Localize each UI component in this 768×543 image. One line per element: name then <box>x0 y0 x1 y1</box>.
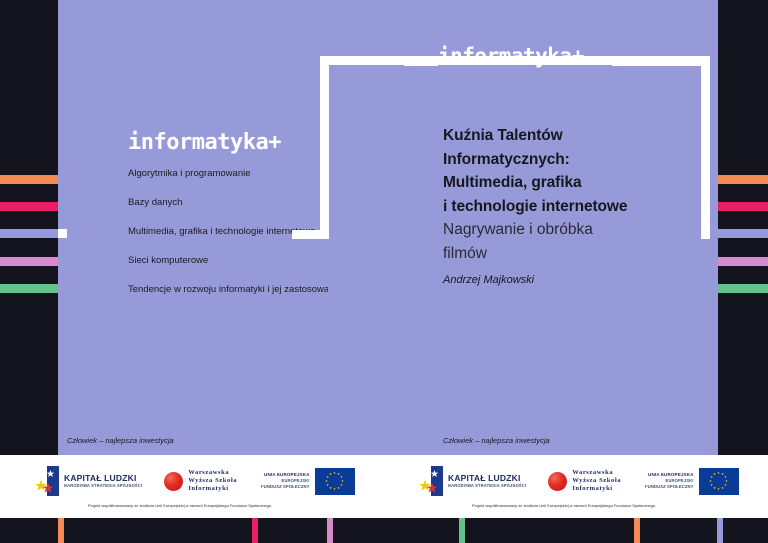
logo-row-left: KAPITAŁ LUDZKI NARODOWA STRATEGIA SPÓJNO… <box>36 463 355 499</box>
title-line-3: Multimedia, grafika <box>443 171 703 195</box>
title-line-4: i technologie internetowe <box>443 195 703 219</box>
footer-note-left: Projekt współfinansowany ze środków Unii… <box>88 503 272 508</box>
wwsi-text: Warszawska Wyższa Szkoła Informatyki <box>572 469 621 493</box>
eu-star-icon <box>721 487 724 490</box>
bottom-stripe-4 <box>459 518 465 543</box>
footer-note-right: Projekt współfinansowany ze środków Unii… <box>472 503 656 508</box>
eu-star-icon <box>717 472 720 475</box>
wwsi-line-1: Warszawska <box>188 469 237 477</box>
bottom-stripe-2 <box>252 518 258 543</box>
logo-wwsi-right: Warszawska Wyższa Szkoła Informatyki <box>548 469 621 493</box>
logo-bar-left <box>404 59 438 66</box>
logo-bar-right <box>612 59 710 66</box>
kapital-ludzki-title: KAPITAŁ LUDZKI <box>64 473 142 483</box>
bottom-stripe-3 <box>327 518 333 543</box>
edge-stripe-right-2 <box>718 202 768 211</box>
kapital-ludzki-text: KAPITAŁ LUDZKI NARODOWA STRATEGIA SPÓJNO… <box>64 473 142 489</box>
bottom-band <box>0 518 768 543</box>
edge-stripe-right-3 <box>718 229 768 238</box>
wwsi-line-1: Warszawska <box>572 469 621 477</box>
bottom-stripe-1 <box>58 518 64 543</box>
eu-star-icon <box>340 476 343 479</box>
eu-star-icon <box>725 480 728 483</box>
logo-unia-europejska-left: UNIA EUROPEJSKA EUROPEJSKI FUNDUSZ SPOŁE… <box>261 468 354 495</box>
logo-informatyka-plus-right: informatyka+ <box>438 44 584 68</box>
bottom-stripe-6 <box>717 518 723 543</box>
eu-star-icon <box>710 476 713 479</box>
logo-wwsi-left: Warszawska Wyższa Szkoła Informatyki <box>164 469 237 493</box>
edge-stripe-left-4 <box>0 257 58 266</box>
kapital-ludzki-text: KAPITAŁ LUDZKI NARODOWA STRATEGIA SPÓJNO… <box>448 473 526 489</box>
logo-kapital-ludzki-left: KAPITAŁ LUDZKI NARODOWA STRATEGIA SPÓJNO… <box>36 466 142 496</box>
kapital-ludzki-title: KAPITAŁ LUDZKI <box>448 473 526 483</box>
ue-line-3: FUNDUSZ SPOŁECZNY <box>645 484 693 490</box>
eu-star-icon <box>329 473 332 476</box>
eu-star-icon <box>724 476 727 479</box>
edge-stripe-left-5 <box>0 284 58 293</box>
eu-star-icon <box>724 484 727 487</box>
eu-star-icon <box>326 476 329 479</box>
bottom-stripe-5 <box>634 518 640 543</box>
wwsi-line-2: Wyższa Szkoła <box>188 477 237 485</box>
eu-star-icon <box>333 472 336 475</box>
eu-star-icon <box>337 487 340 490</box>
subtitle-line-2: filmów <box>443 242 703 266</box>
eu-star-icon <box>341 480 344 483</box>
wwsi-line-3: Informatyki <box>572 485 621 493</box>
active-topic-tab-left <box>58 229 67 238</box>
ue-line-3: FUNDUSZ SPOŁECZNY <box>261 484 309 490</box>
frame-right-segment <box>701 56 710 239</box>
edge-stripe-left-3 <box>0 229 58 238</box>
eu-star-icon <box>713 473 716 476</box>
author-name: Andrzej Majkowski <box>443 274 703 286</box>
kapital-ludzki-icon <box>36 466 59 496</box>
logo-informatyka-plus-left: informatyka+ <box>128 130 281 155</box>
title-block: Kuźnia Talentów Informatycznych: Multime… <box>443 124 703 286</box>
eu-flag-icon <box>315 468 355 495</box>
eu-star-icon <box>710 484 713 487</box>
frame-left-segment <box>320 56 329 239</box>
eu-star-icon <box>340 484 343 487</box>
eu-star-icon <box>709 480 712 483</box>
eu-star-icon <box>337 473 340 476</box>
eu-star-icon <box>329 487 332 490</box>
slogan-right: Człowiek – najlepsza inwestycja <box>443 436 550 445</box>
slide-canvas: informatyka+ Algorytmika i programowanie… <box>0 0 768 543</box>
kapital-ludzki-icon <box>420 466 443 496</box>
frame-bottom-stub <box>292 230 329 239</box>
eu-star-icon <box>721 473 724 476</box>
wwsi-line-3: Informatyki <box>188 485 237 493</box>
wwsi-line-2: Wyższa Szkoła <box>572 477 621 485</box>
edge-stripe-right-4 <box>718 257 768 266</box>
eu-star-icon <box>333 488 336 491</box>
title-line-1: Kuźnia Talentów <box>443 124 703 148</box>
eu-star-icon <box>713 487 716 490</box>
wwsi-sphere-icon <box>548 472 567 491</box>
subtitle-line-1: Nagrywanie i obróbka <box>443 218 703 242</box>
title-line-2: Informatycznych: <box>443 148 703 172</box>
logo-kapital-ludzki-right: KAPITAŁ LUDZKI NARODOWA STRATEGIA SPÓJNO… <box>420 466 526 496</box>
wwsi-text: Warszawska Wyższa Szkoła Informatyki <box>188 469 237 493</box>
slide-panel-left: informatyka+ Algorytmika i programowanie… <box>58 0 328 455</box>
logo-row-right: KAPITAŁ LUDZKI NARODOWA STRATEGIA SPÓJNO… <box>420 463 739 499</box>
eu-star-icon <box>325 480 328 483</box>
logo-unia-europejska-right: UNIA EUROPEJSKA EUROPEJSKI FUNDUSZ SPOŁE… <box>645 468 738 495</box>
kapital-ludzki-subtitle: NARODOWA STRATEGIA SPÓJNOŚCI <box>448 483 526 489</box>
wwsi-sphere-icon <box>164 472 183 491</box>
eu-star-icon <box>326 484 329 487</box>
kapital-ludzki-subtitle: NARODOWA STRATEGIA SPÓJNOŚCI <box>64 483 142 489</box>
edge-stripe-right-1 <box>718 175 768 184</box>
eu-flag-icon <box>699 468 739 495</box>
edge-stripe-left-2 <box>0 202 58 211</box>
unia-europejska-text: UNIA EUROPEJSKA EUROPEJSKI FUNDUSZ SPOŁE… <box>261 472 309 489</box>
edge-stripe-right-5 <box>718 284 768 293</box>
slogan-left: Człowiek – najlepsza inwestycja <box>67 436 174 445</box>
unia-europejska-text: UNIA EUROPEJSKA EUROPEJSKI FUNDUSZ SPOŁE… <box>645 472 693 489</box>
slide-panel-right: Kuźnia Talentów Informatycznych: Multime… <box>328 0 718 455</box>
eu-star-icon <box>717 488 720 491</box>
footer-band: KAPITAŁ LUDZKI NARODOWA STRATEGIA SPÓJNO… <box>0 455 768 518</box>
edge-stripe-left-1 <box>0 175 58 184</box>
